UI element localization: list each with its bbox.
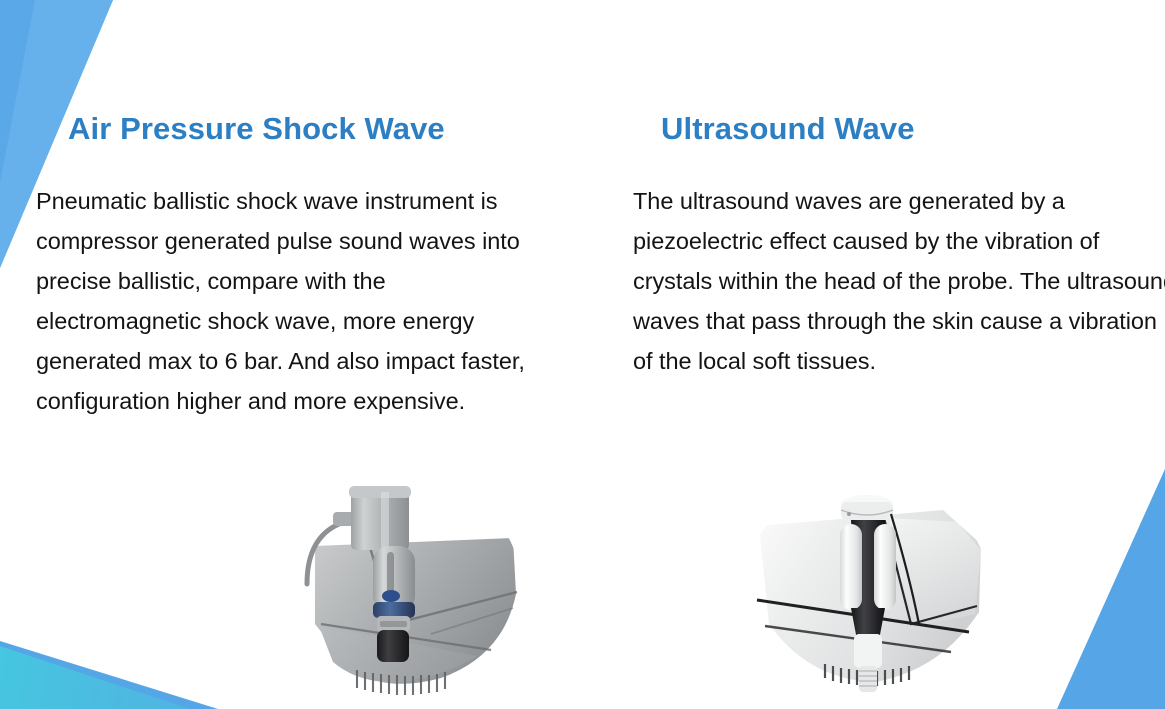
gray-shock-wave-device-photo xyxy=(281,474,523,709)
column-title-ultrasound: Ultrasound Wave xyxy=(661,113,1145,144)
column-title-air-pressure: Air Pressure Shock Wave xyxy=(68,113,535,144)
slide-canvas: Air Pressure Shock Wave Pneumatic ballis… xyxy=(0,0,1165,709)
white-ultrasound-device-photo xyxy=(743,474,991,709)
column-body-ultrasound: The ultrasound waves are generated by a … xyxy=(633,181,1165,381)
column-body-air-pressure: Pneumatic ballistic shock wave instrumen… xyxy=(36,181,548,421)
